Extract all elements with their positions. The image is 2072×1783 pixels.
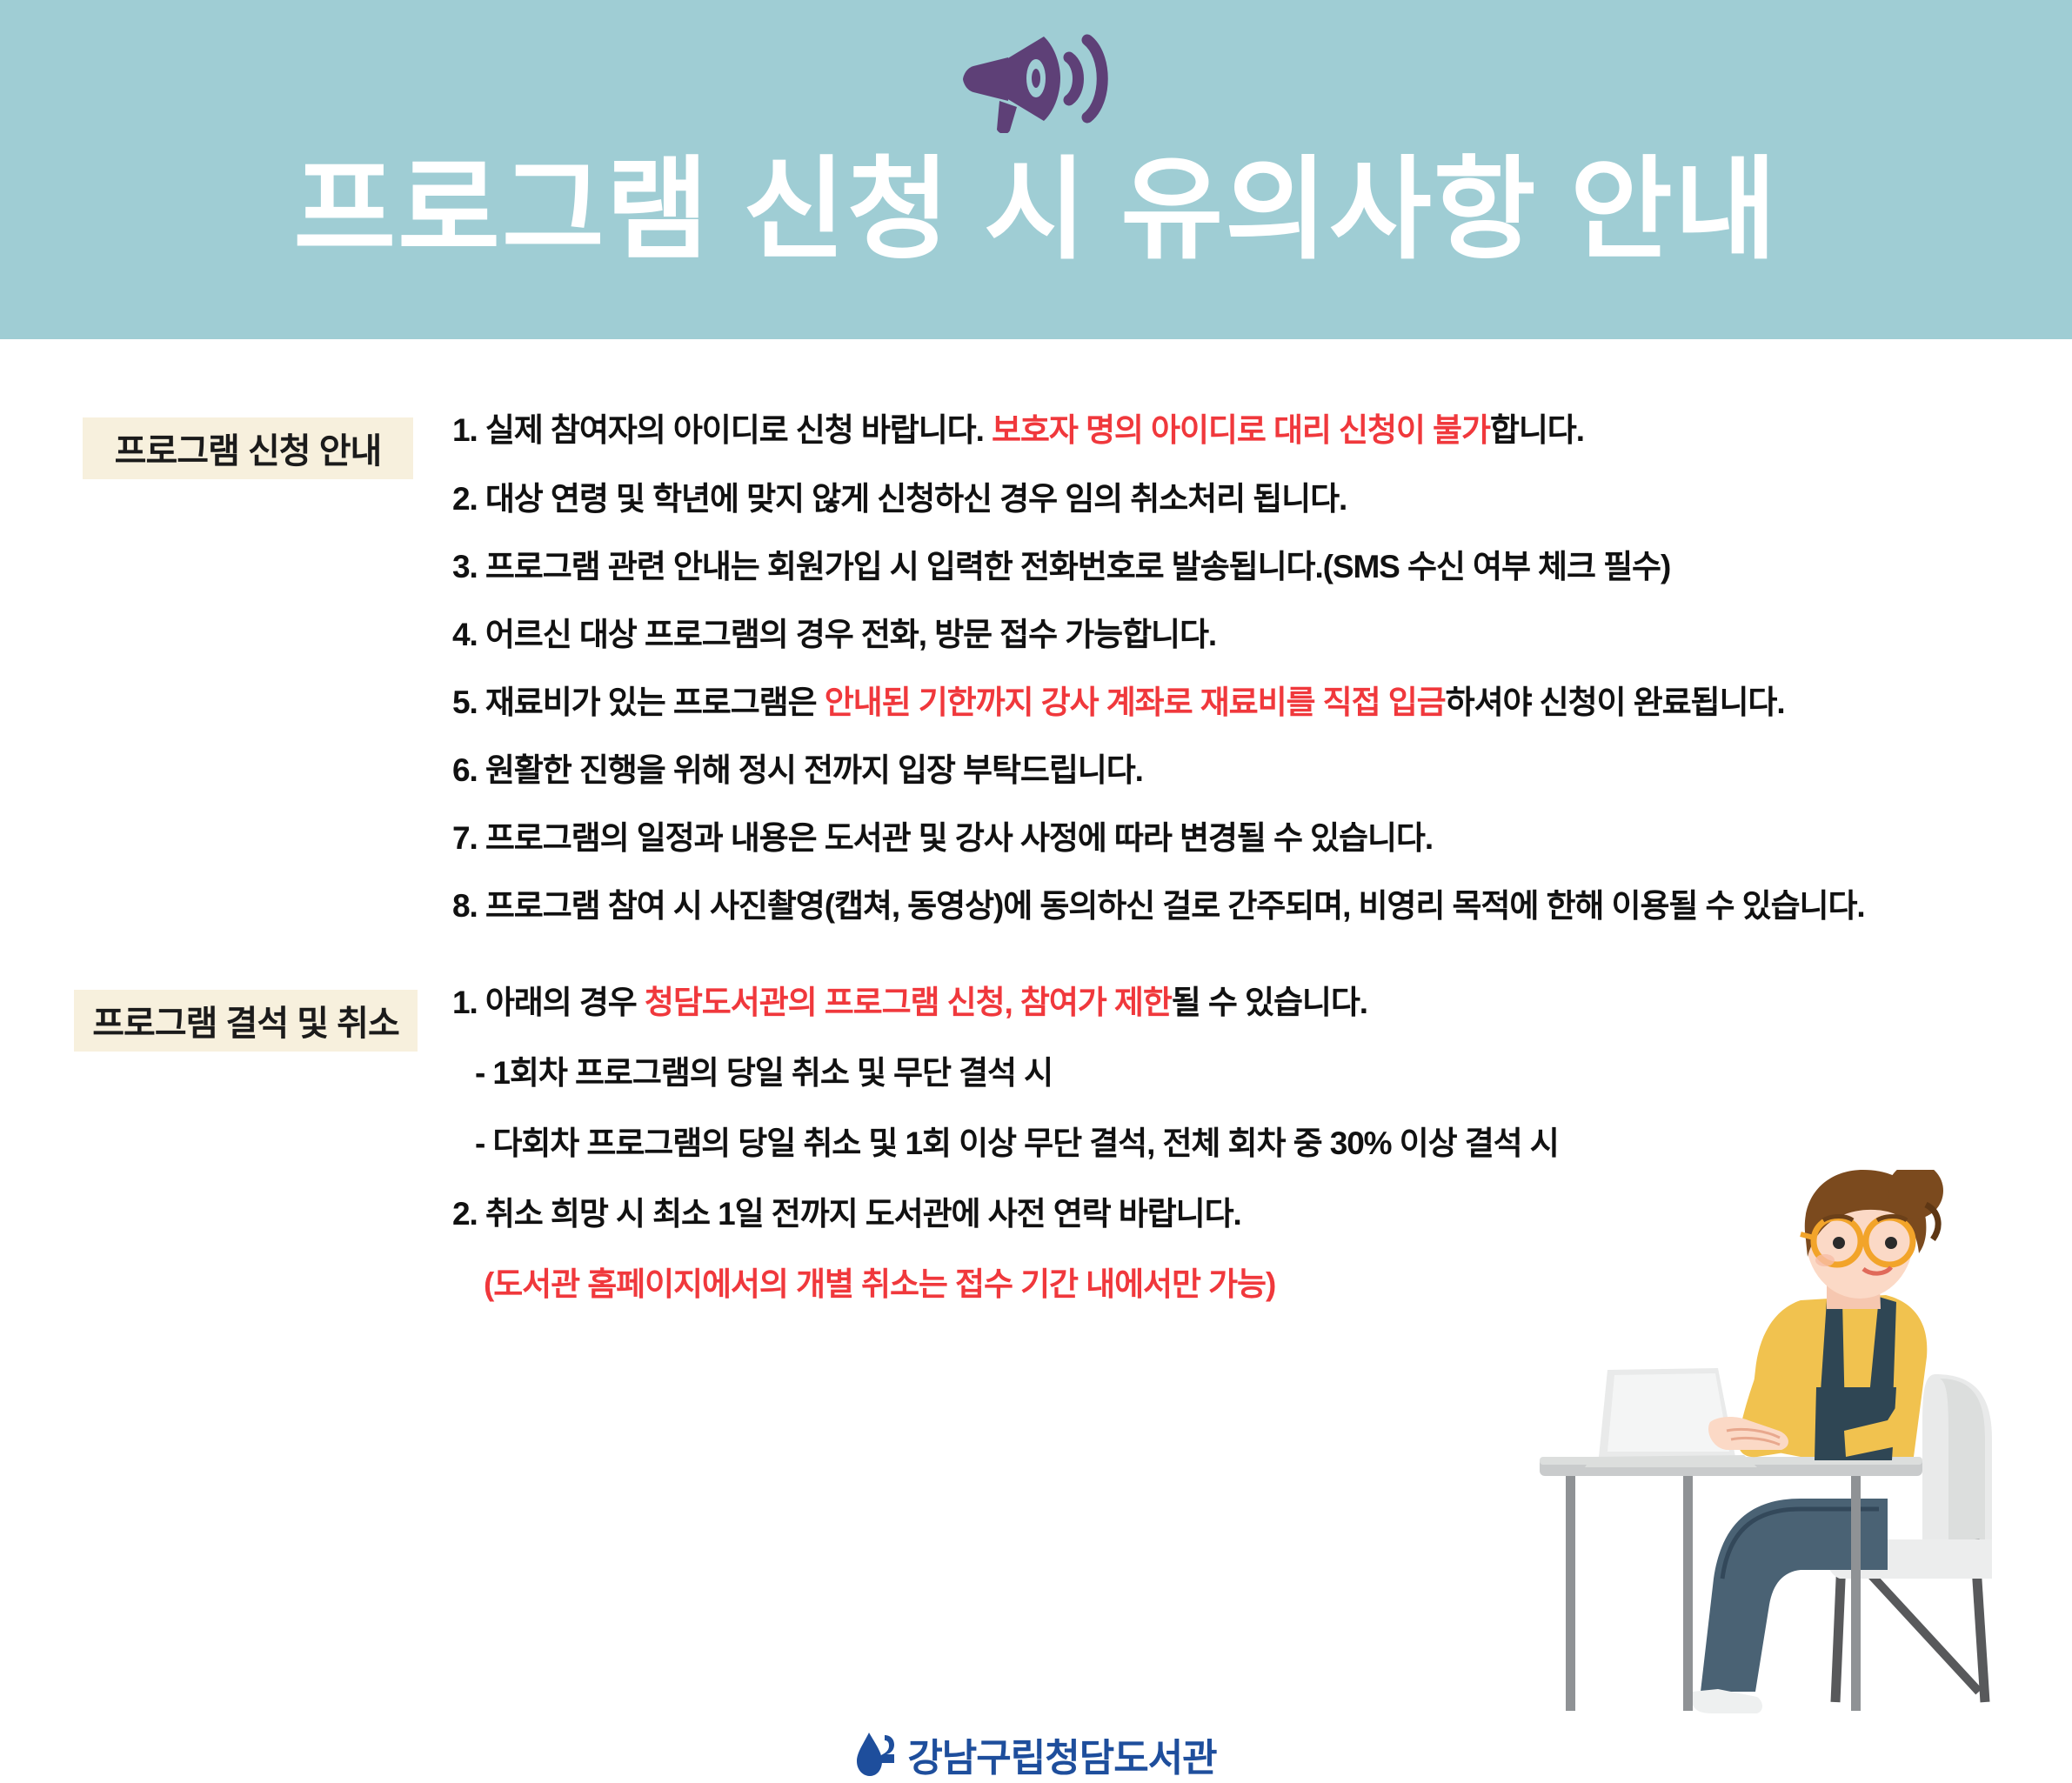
- list-item-text: 프로그램 참여 시 사진촬영(캡쳐, 동영상)에 동의하신 걸로 간주되며, 비…: [485, 888, 1865, 924]
- emphasis-text: 청담도서관의 프로그램 신청, 참여가 제한: [645, 985, 1172, 1020]
- list-item-text: 아래의 경우: [485, 985, 645, 1020]
- list-item: 7. 프로그램의 일정과 내용은 도서관 및 강사 사정에 따라 변경될 수 있…: [452, 822, 2053, 854]
- list-item-marker: 2.: [452, 1196, 485, 1232]
- list-item-marker: 2.: [452, 481, 485, 517]
- page-title: 프로그램 신청 시 유의사항 안내: [0, 155, 2072, 266]
- header-band: 프로그램 신청 시 유의사항 안내: [0, 0, 2072, 339]
- list-item: 8. 프로그램 참여 시 사진촬영(캡쳐, 동영상)에 동의하신 걸로 간주되며…: [452, 890, 2053, 922]
- footer-logo: 강남구립청담도서관: [0, 1726, 2072, 1782]
- list-item-marker: 1.: [452, 412, 485, 448]
- list-item-text: 프로그램 관련 안내는 회원가입 시 입력한 전화번호로 발송됩니다.(SMS …: [485, 549, 1670, 584]
- list-item-text: 프로그램의 일정과 내용은 도서관 및 강사 사정에 따라 변경될 수 있습니다…: [485, 820, 1433, 856]
- list-item: 2. 대상 연령 및 학년에 맞지 않게 신청하신 경우 임의 취소처리 됩니다…: [452, 483, 2053, 515]
- list-item-marker: 5.: [452, 684, 485, 720]
- list-item-text: 하셔야 신청이 완료됩니다.: [1446, 684, 1785, 720]
- library-name: 강남구립청담도서관: [907, 1726, 1216, 1782]
- list-item: 3. 프로그램 관련 안내는 회원가입 시 입력한 전화번호로 발송됩니다.(S…: [452, 551, 2053, 583]
- megaphone-icon: [952, 24, 1118, 133]
- list-item: 5. 재료비가 있는 프로그램은 안내된 기한까지 강사 계좌로 재료비를 직접…: [452, 686, 2053, 718]
- list-item-text: 어르신 대상 프로그램의 경우 전화, 방문 접수 가능합니다.: [485, 617, 1216, 652]
- emphasis-text: 보호자 명의 아이디로 대리 신청이 불가: [992, 412, 1490, 448]
- emphasis-text: (도서관 홈페이지에서의 개별 취소는 접수 기간 내에서만 가능): [484, 1266, 1275, 1302]
- water-drop-mark-icon: [855, 1730, 895, 1779]
- list-item-text: 합니다.: [1490, 412, 1584, 448]
- list-item-text: 취소 희망 시 최소 1일 전까지 도서관에 사전 연락 바랍니다.: [485, 1196, 1241, 1232]
- list-item-text: 원활한 진행을 위해 정시 전까지 입장 부탁드립니다.: [485, 752, 1143, 788]
- list-item-marker: -: [475, 1125, 492, 1161]
- list-item-marker: 7.: [452, 820, 485, 856]
- list-item-text: 다회차 프로그램의 당일 취소 및 1회 이상 무단 결석, 전체 회차 중 3…: [492, 1125, 1558, 1161]
- section-label-application: 프로그램 신청 안내: [83, 417, 413, 479]
- list-item: 1. 아래의 경우 청담도서관의 프로그램 신청, 참여가 제한될 수 있습니다…: [452, 986, 2053, 1018]
- list-item: - 다회차 프로그램의 당일 취소 및 1회 이상 무단 결석, 전체 회차 중…: [452, 1127, 2053, 1159]
- woman-using-laptop-illustration: [1540, 1170, 2072, 1718]
- list-item: - 1회차 프로그램의 당일 취소 및 무단 결석 시: [452, 1057, 2053, 1089]
- list-item-text: 1회차 프로그램의 당일 취소 및 무단 결석 시: [492, 1055, 1053, 1091]
- list-item: 1. 실제 참여자의 아이디로 신청 바랍니다. 보호자 명의 아이디로 대리 …: [452, 414, 2053, 446]
- list-item-text: 될 수 있습니다.: [1172, 985, 1367, 1020]
- list-application-notices: 1. 실제 참여자의 아이디로 신청 바랍니다. 보호자 명의 아이디로 대리 …: [452, 414, 2053, 958]
- list-item-text: 실제 참여자의 아이디로 신청 바랍니다.: [485, 412, 992, 448]
- content-area: 프로그램 신청 안내 1. 실제 참여자의 아이디로 신청 바랍니다. 보호자 …: [0, 339, 2072, 1465]
- list-item: 4. 어르신 대상 프로그램의 경우 전화, 방문 접수 가능합니다.: [452, 618, 2053, 651]
- list-item-text: 재료비가 있는 프로그램은: [485, 684, 825, 720]
- section-label-cancellation: 프로그램 결석 및 취소: [74, 990, 418, 1052]
- list-item-marker: 3.: [452, 549, 485, 584]
- list-item-marker: 4.: [452, 617, 485, 652]
- list-item-marker: 6.: [452, 752, 485, 788]
- list-item: 6. 원활한 진행을 위해 정시 전까지 입장 부탁드립니다.: [452, 754, 2053, 786]
- list-item-text: 대상 연령 및 학년에 맞지 않게 신청하신 경우 임의 취소처리 됩니다.: [485, 481, 1347, 517]
- list-item-marker: -: [475, 1055, 492, 1091]
- list-item-marker: 8.: [452, 888, 485, 924]
- list-item-marker: 1.: [452, 985, 485, 1020]
- emphasis-text: 안내된 기한까지 강사 계좌로 재료비를 직접 입금: [825, 684, 1446, 720]
